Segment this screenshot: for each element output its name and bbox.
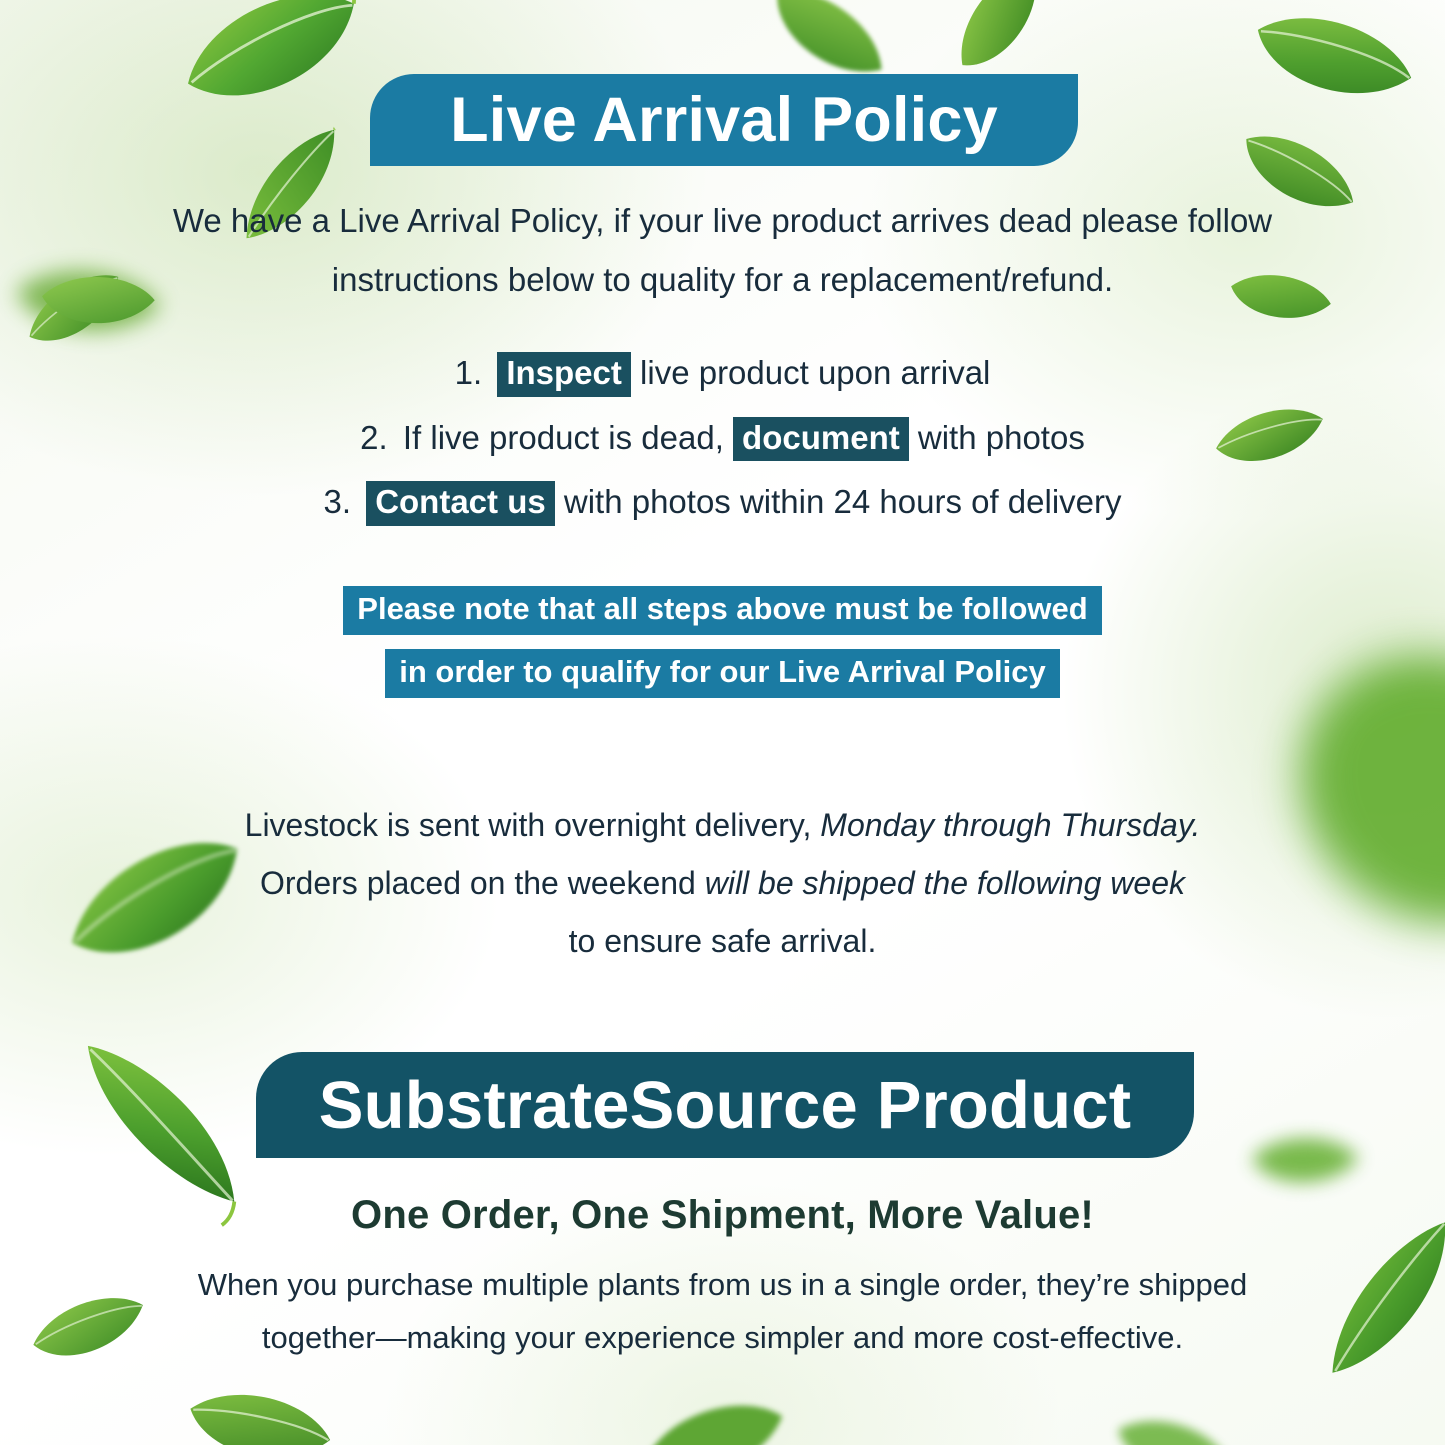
substratesource-product-banner-title: SubstrateSource Product [319, 1067, 1132, 1144]
product-subheading: One Order, One Shipment, More Value! [180, 1193, 1265, 1238]
policy-intro-line-1: We have a Live Arrival Policy, if your l… [150, 192, 1295, 251]
product-body-line-1: When you purchase multiple plants from u… [180, 1258, 1265, 1311]
shipping-line-3: to ensure safe arrival. [215, 912, 1230, 970]
live-arrival-policy-banner-title: Live Arrival Policy [450, 84, 998, 156]
policy-step-1-after: live product upon arrival [640, 354, 990, 391]
policy-step-1-highlight: Inspect [497, 352, 631, 397]
policy-steps-list: 1. Inspect live product upon arrival 2. … [175, 352, 1270, 546]
policy-step-2: 2. If live product is dead, document wit… [175, 417, 1270, 462]
policy-step-3: 3. Contact us with photos within 24 hour… [175, 481, 1270, 526]
policy-note-line-2: in order to qualify for our Live Arrival… [385, 649, 1060, 698]
shipping-line-1-plain: Livestock is sent with overnight deliver… [245, 807, 812, 843]
shipping-line-2: Orders placed on the weekend will be shi… [215, 854, 1230, 912]
policy-step-3-highlight: Contact us [366, 481, 555, 526]
policy-step-3-after: with photos within 24 hours of delivery [564, 483, 1122, 520]
policy-step-2-before: If live product is dead, [403, 419, 724, 456]
product-body-paragraph: When you purchase multiple plants from u… [180, 1258, 1265, 1365]
policy-intro-line-2: instructions below to quality for a repl… [150, 251, 1295, 310]
policy-infographic: Live Arrival Policy We have a Live Arriv… [0, 0, 1445, 1445]
policy-note-row-2: in order to qualify for our Live Arrival… [175, 649, 1270, 698]
substratesource-product-banner: SubstrateSource Product [256, 1052, 1194, 1158]
policy-step-2-after: with photos [918, 419, 1085, 456]
product-body-line-2: together—making your experience simpler … [180, 1311, 1265, 1364]
shipping-line-1-italic: Monday through Thursday. [820, 807, 1200, 843]
policy-intro-paragraph: We have a Live Arrival Policy, if your l… [150, 192, 1295, 309]
shipping-paragraph: Livestock is sent with overnight deliver… [215, 796, 1230, 971]
policy-step-1-number: 1. [455, 354, 483, 391]
policy-note-row-1: Please note that all steps above must be… [175, 586, 1270, 635]
policy-note-line-1: Please note that all steps above must be… [343, 586, 1101, 635]
policy-step-2-highlight: document [733, 417, 909, 462]
policy-note-block: Please note that all steps above must be… [175, 586, 1270, 712]
live-arrival-policy-banner: Live Arrival Policy [370, 74, 1078, 166]
policy-step-2-number: 2. [360, 419, 388, 456]
policy-step-1: 1. Inspect live product upon arrival [175, 352, 1270, 397]
shipping-line-2-plain: Orders placed on the weekend [260, 865, 696, 901]
shipping-line-2-italic: will be shipped the following week [705, 865, 1185, 901]
shipping-line-1: Livestock is sent with overnight deliver… [215, 796, 1230, 854]
policy-step-3-number: 3. [323, 483, 351, 520]
